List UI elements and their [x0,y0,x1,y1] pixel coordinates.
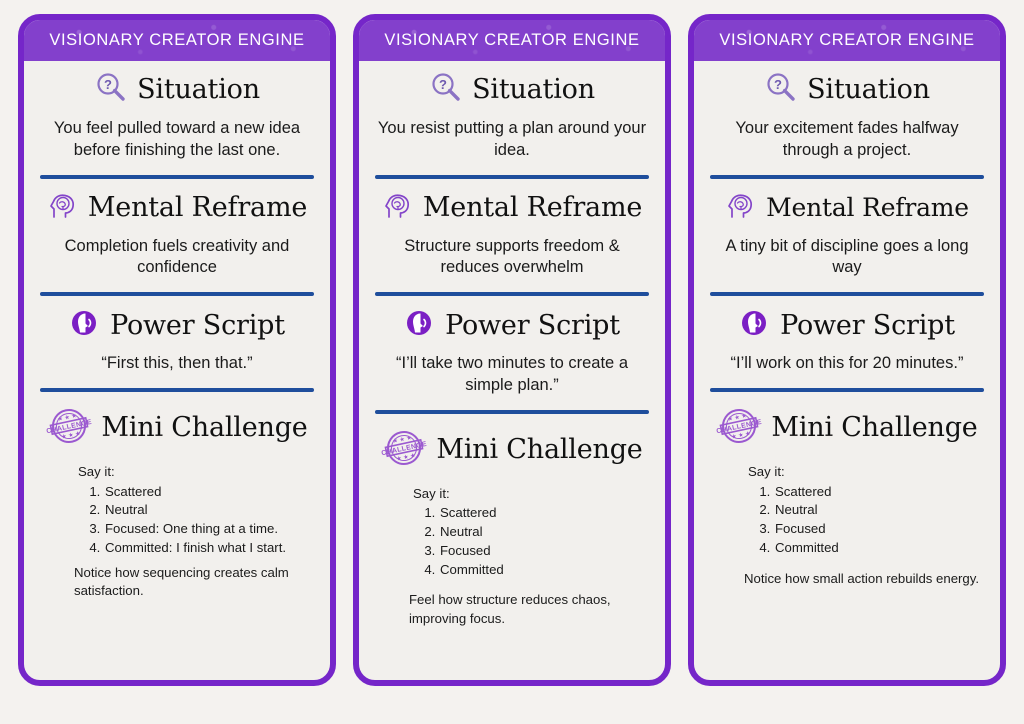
section-head-mini-challenge: CHALLENGE★ ★ ★★ ★ ★ Mini Challenge [708,403,986,454]
svg-text:?: ? [774,77,782,92]
list-item: Scattered [774,483,986,502]
section-title-mental-reframe: Mental Reframe [88,193,307,223]
list-item: Focused [439,542,651,561]
section-head-situation: ? Situation [38,70,316,109]
head-brain-icon [382,190,414,227]
cards-page: VISIONARY CREATOR ENGINE ? Situation You… [0,0,1024,724]
section-title-mini-challenge: Mini Challenge [101,413,307,443]
challenge-prompt: Say it: [413,485,651,504]
engine-card-1[interactable]: VISIONARY CREATOR ENGINE ? Situation You… [18,14,336,686]
section-head-situation: ? Situation [373,70,651,109]
svg-text:?: ? [439,77,447,92]
situation-text: You feel pulled toward a new idea before… [42,118,312,162]
challenge-stamp-icon: CHALLENGE★ ★ ★★ ★ ★ [381,425,427,476]
section-title-mental-reframe: Mental Reframe [766,194,969,222]
list-item: Neutral [774,501,986,520]
challenge-stamp-icon: CHALLENGE★ ★ ★★ ★ ★ [716,403,762,454]
section-title-mini-challenge: Mini Challenge [771,413,977,443]
card-body: ? Situation You feel pulled toward a new… [24,61,330,680]
engine-card-3[interactable]: VISIONARY CREATOR ENGINE ? Situation You… [688,14,1006,686]
section-head-mental-reframe: Mental Reframe [38,190,316,227]
divider-3 [375,410,649,414]
challenge-stamp-icon: CHALLENGE★ ★ ★★ ★ ★ [46,403,92,454]
section-head-situation: ? Situation [708,70,986,109]
list-item: Neutral [104,501,316,520]
mental-reframe-text: Completion fuels creativity and confiden… [42,236,312,280]
section-title-situation: Situation [807,75,930,105]
card-header-title: VISIONARY CREATOR ENGINE [359,20,665,61]
power-script-text: “First this, then that.” [42,353,312,375]
divider-1 [710,175,984,179]
magnifier-question-icon: ? [429,70,463,109]
section-head-mini-challenge: CHALLENGE★ ★ ★★ ★ ★ Mini Challenge [373,425,651,476]
speaking-head-icon [404,307,436,344]
divider-2 [40,292,314,296]
divider-2 [375,292,649,296]
section-head-power-script: Power Script [38,307,316,344]
list-item: Focused [774,520,986,539]
divider-3 [710,388,984,392]
power-script-text: “I’ll work on this for 20 minutes.” [712,353,982,375]
card-header-title: VISIONARY CREATOR ENGINE [694,20,1000,61]
challenge-list: Scattered Neutral Focused: One thing at … [78,483,316,558]
section-title-power-script: Power Script [780,311,955,341]
svg-text:?: ? [104,77,112,92]
section-head-power-script: Power Script [708,307,986,344]
list-item: Committed [439,561,651,580]
card-body: ? Situation Your excitement fades halfwa… [694,61,1000,680]
list-item: Scattered [104,483,316,502]
challenge-list: Scattered Neutral Focused Committed [413,504,651,579]
divider-2 [710,292,984,296]
section-title-situation: Situation [472,75,595,105]
list-item: Committed [774,539,986,558]
mental-reframe-text: A tiny bit of discipline goes a long way [712,236,982,280]
challenge-block: Say it: Scattered Neutral Focused Commit… [413,485,651,629]
section-head-power-script: Power Script [373,307,651,344]
engine-card-2[interactable]: VISIONARY CREATOR ENGINE ? Situation You… [353,14,671,686]
head-brain-icon [725,190,757,227]
list-item: Neutral [439,523,651,542]
section-head-mental-reframe: Mental Reframe [373,190,651,227]
speaking-head-icon [739,307,771,344]
list-item: Committed: I finish what I start. [104,539,316,558]
situation-text: Your excitement fades halfway through a … [712,118,982,162]
mental-reframe-text: Structure supports freedom & reduces ove… [377,236,647,280]
challenge-list: Scattered Neutral Focused Committed [748,483,986,558]
section-head-mini-challenge: CHALLENGE★ ★ ★★ ★ ★ Mini Challenge [38,403,316,454]
divider-1 [375,175,649,179]
challenge-note: Notice how small action rebuilds energy. [744,570,986,589]
power-script-text: “I’ll take two minutes to create a simpl… [377,353,647,397]
section-title-mini-challenge: Mini Challenge [436,435,642,465]
challenge-prompt: Say it: [78,463,316,482]
card-body: ? Situation You resist putting a plan ar… [359,61,665,680]
section-title-power-script: Power Script [110,311,285,341]
challenge-block: Say it: Scattered Neutral Focused Commit… [748,463,986,588]
magnifier-question-icon: ? [764,70,798,109]
challenge-prompt: Say it: [748,463,986,482]
list-item: Scattered [439,504,651,523]
section-title-power-script: Power Script [445,311,620,341]
section-title-situation: Situation [137,75,260,105]
divider-1 [40,175,314,179]
challenge-block: Say it: Scattered Neutral Focused: One t… [78,463,316,601]
situation-text: You resist putting a plan around your id… [377,118,647,162]
magnifier-question-icon: ? [94,70,128,109]
section-title-mental-reframe: Mental Reframe [423,193,642,223]
divider-3 [40,388,314,392]
challenge-note: Feel how structure reduces chaos, improv… [409,591,651,628]
challenge-note: Notice how sequencing creates calm satis… [74,564,316,601]
card-header-title: VISIONARY CREATOR ENGINE [24,20,330,61]
list-item: Focused: One thing at a time. [104,520,316,539]
head-brain-icon [47,190,79,227]
speaking-head-icon [69,307,101,344]
section-head-mental-reframe: Mental Reframe [708,190,986,227]
